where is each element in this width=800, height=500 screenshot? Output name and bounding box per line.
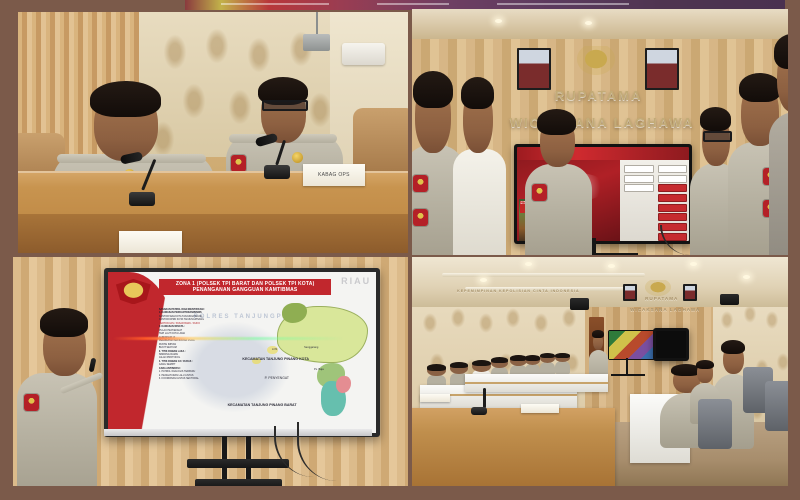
- ceiling: [412, 9, 788, 39]
- ceiling-light-strip: [442, 273, 645, 277]
- shoulder-patch: [532, 184, 547, 201]
- room-monitor[interactable]: [608, 330, 655, 359]
- seated-officer: [555, 353, 570, 374]
- wall-speaker: [570, 298, 589, 309]
- office-chair[interactable]: [765, 381, 788, 431]
- name-tent-label: KABAG OPS: [318, 172, 350, 178]
- map-label-penyengat: P. PENYENGAT: [265, 376, 289, 380]
- name-tent: KABAG OPS: [303, 164, 365, 186]
- ceiling-light: [480, 278, 487, 282]
- eyeglasses: [262, 100, 308, 111]
- laser-pointer-beam: [113, 337, 344, 340]
- map-label-barat: KECAMATAN TANJUNG PINANG BARAT: [228, 403, 297, 407]
- officer-presenter: [525, 112, 593, 255]
- menu-button[interactable]: [658, 175, 688, 183]
- presentation-slide: ZONA 1 (POLSEK TPI BARAT DAN POLSEK TPI …: [108, 272, 377, 432]
- name-tent: [521, 404, 559, 413]
- vice-president-portrait: [683, 284, 697, 301]
- display-stand-base: [195, 479, 282, 486]
- seated-officer: [540, 353, 555, 376]
- desk-microphone: [465, 388, 510, 420]
- presentation-display[interactable]: ZONA 1 (POLSEK TPI BARAT DAN POLSEK TPI …: [104, 268, 381, 436]
- name-tent: [119, 231, 181, 253]
- menu-button[interactable]: [658, 184, 688, 192]
- display-stand-shelf: [187, 459, 290, 468]
- wall-text-rupatama: RUPATAMA: [555, 88, 643, 103]
- shoulder-patch: [24, 394, 39, 411]
- map-label-senggarang: Senggarang: [304, 346, 318, 349]
- officer-back-left-2: [453, 73, 506, 255]
- menu-button[interactable]: [658, 165, 688, 173]
- ceiling-light: [525, 262, 532, 266]
- slide-bullet: 3. KOORDINASI LINTAS SEKTORAL: [159, 377, 229, 380]
- president-portrait: [517, 48, 551, 90]
- shoulder-patch: [231, 155, 246, 172]
- ceiling-light: [608, 264, 615, 268]
- menu-button[interactable]: [658, 194, 688, 202]
- wall-speaker: [720, 294, 739, 305]
- slide-title-line2: PENANGANAN GANGGUAN KAMTIBMAS: [162, 287, 329, 293]
- panel-press-conference: INDRAJA KABAG OPS: [18, 12, 408, 253]
- ceiling-light: [495, 19, 502, 23]
- zone-map: KECAMATAN TANJUNG PINANG KOTA P. PENYENG…: [245, 298, 369, 423]
- air-conditioner: [342, 43, 385, 65]
- map-label-kota: KECAMATAN TANJUNG PINANG KOTA: [242, 357, 309, 361]
- slide-watermark-riau: RIAU: [341, 276, 371, 286]
- menu-button[interactable]: [624, 175, 654, 183]
- zone-area-pink: [336, 376, 351, 394]
- chair: [353, 108, 408, 171]
- monitor-stand-base: [611, 374, 645, 376]
- shoulder-patch: [413, 175, 428, 192]
- menu-button[interactable]: [624, 184, 654, 192]
- map-label-psbaja: Ps. Baja: [314, 368, 324, 371]
- name-tent: [420, 394, 450, 402]
- table-front-panel: [18, 214, 408, 253]
- officer-presenter-pointing: [17, 312, 104, 486]
- microphone: [127, 147, 228, 219]
- foreground-desk: [412, 408, 615, 486]
- vice-president-portrait: [645, 48, 679, 90]
- photo-collage: INDRAJA KABAG OPS: [0, 0, 800, 500]
- map-label-los: LOS: [272, 348, 277, 351]
- menu-button[interactable]: [658, 204, 688, 212]
- panel-wide-meeting-room: KEPEMIMPINAN KEPOLISIAN CINTA INDONESIA …: [412, 257, 788, 486]
- menu-button[interactable]: [624, 165, 654, 173]
- slide-title: ZONA 1 (POLSEK TPI BARAT DAN POLSEK TPI …: [159, 279, 332, 296]
- president-portrait: [623, 284, 637, 301]
- ceiling-light: [690, 262, 697, 266]
- office-chair[interactable]: [698, 399, 732, 449]
- desk-accent-stripe: [465, 382, 608, 384]
- shoulder-patch: [413, 209, 428, 226]
- slide-bullet-list: SASARAN PATROLI DAN IDENTIFIKASI :1. KAW…: [159, 308, 229, 381]
- wall-text-left-slogan: KEPEMIMPINAN KEPOLISIAN CINTA INDONESIA: [457, 289, 579, 293]
- menu-button[interactable]: [658, 213, 688, 221]
- wall-text-wicaksana-laghawa: WICAKSANA LAGHAWA: [630, 307, 700, 312]
- laser-pointer: [90, 358, 99, 383]
- garuda-emblem: [577, 46, 615, 76]
- projector: [303, 34, 330, 51]
- secondary-monitor[interactable]: [653, 328, 689, 361]
- garuda-emblem: [645, 280, 671, 296]
- wall-text-rupatama: RUPATAMA: [645, 296, 678, 301]
- panel-map-presentation: ZONA 1 (POLSEK TPI BARAT DAN POLSEK TPI …: [13, 257, 408, 486]
- panel-monitor-briefing: RUPATAMA WICAKSANA LAGHAWA PENANGANAN GA…: [412, 9, 788, 255]
- officer-far-right: [769, 39, 788, 255]
- projector-arm: [316, 12, 318, 34]
